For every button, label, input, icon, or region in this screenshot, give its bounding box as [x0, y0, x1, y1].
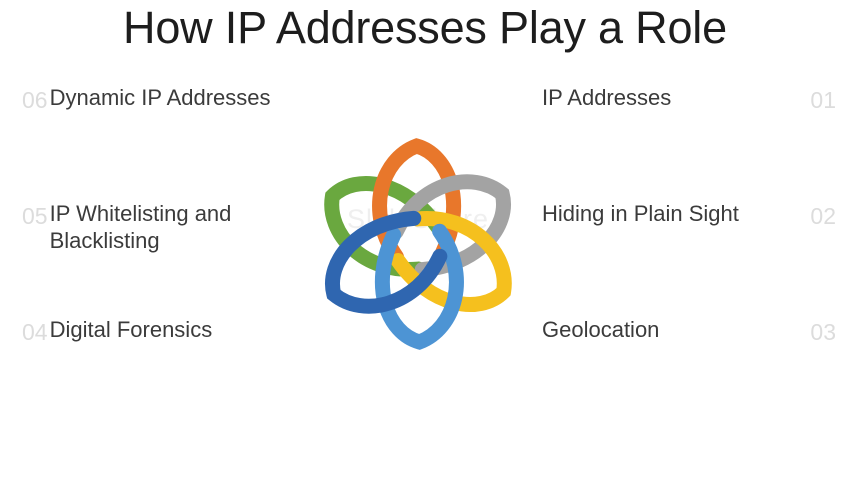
list-item-hiding-in-plain-sight[interactable]: 02 Hiding in Plain Sight — [536, 200, 836, 230]
slide-canvas: How IP Addresses Play a Role 06 Dynamic … — [0, 0, 850, 480]
item-number: 02 — [790, 200, 836, 230]
item-label: Geolocation — [536, 316, 788, 343]
list-item-digital-forensics[interactable]: 04 Digital Forensics — [22, 316, 322, 346]
pinwheel-svg — [278, 112, 558, 372]
list-item-ip-addresses[interactable]: 01 IP Addresses — [536, 84, 836, 114]
item-label: Hiding in Plain Sight — [536, 200, 788, 227]
list-item-geolocation[interactable]: 03 Geolocation — [536, 316, 836, 346]
item-number: 06 — [22, 84, 48, 114]
item-number: 03 — [790, 316, 836, 346]
pinwheel-diagram — [278, 112, 558, 372]
page-title: How IP Addresses Play a Role — [0, 2, 850, 54]
item-label: IP Addresses — [536, 84, 788, 111]
item-label: Dynamic IP Addresses — [50, 84, 322, 111]
item-number: 04 — [22, 316, 48, 346]
item-number: 05 — [22, 200, 48, 230]
list-item-ip-whitelisting-and-blacklisting[interactable]: 05 IP Whitelisting and Blacklisting — [22, 200, 322, 254]
list-item-dynamic-ip-addresses[interactable]: 06 Dynamic IP Addresses — [22, 84, 322, 114]
item-number: 01 — [790, 84, 836, 114]
